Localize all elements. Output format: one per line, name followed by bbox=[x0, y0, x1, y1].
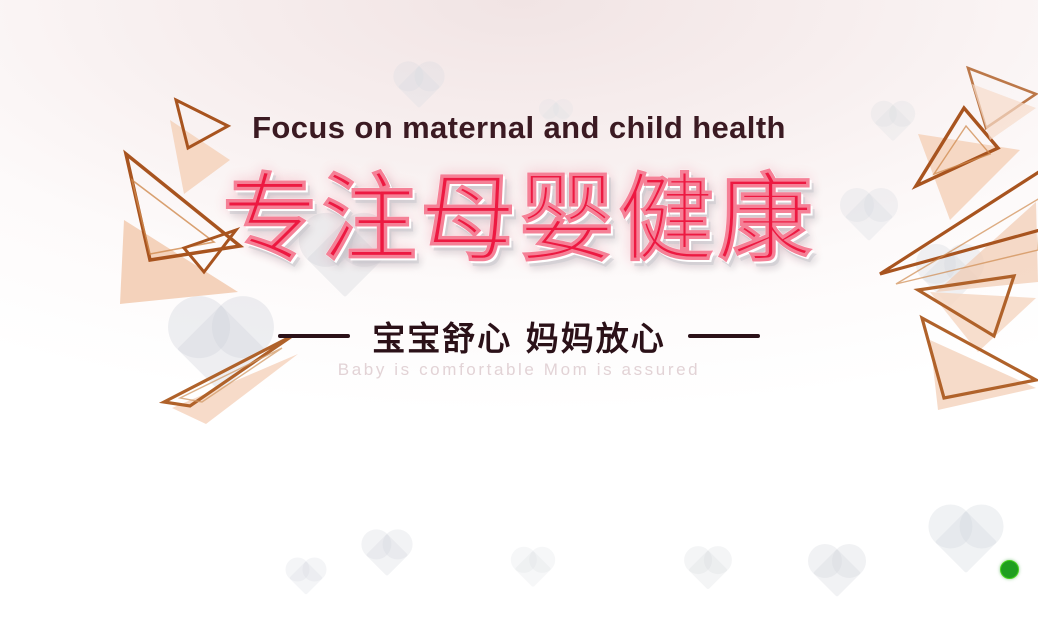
background-heart bbox=[398, 66, 440, 108]
background-heart bbox=[813, 549, 861, 597]
tagline-text: Baby is comfortable Mom is assured bbox=[0, 360, 1038, 380]
subtitle-text: 宝宝舒心 妈妈放心 bbox=[372, 312, 666, 360]
eyebrow-headline: Focus on maternal and child health bbox=[0, 110, 1038, 146]
background-heart bbox=[515, 551, 552, 588]
subtitle-row: 宝宝舒心 妈妈放心 bbox=[0, 312, 1038, 360]
background-heart bbox=[366, 534, 408, 576]
poster-canvas: Focus on maternal and child health 专注母婴健… bbox=[0, 0, 1038, 624]
right-rule-divider bbox=[688, 334, 760, 338]
background-heart bbox=[688, 550, 728, 590]
background-heart bbox=[935, 511, 997, 573]
background-heart bbox=[289, 561, 323, 595]
left-rule-divider bbox=[278, 334, 350, 338]
green-status-dot[interactable] bbox=[1000, 560, 1019, 579]
page-title: 专注母婴健康 bbox=[0, 168, 1038, 272]
